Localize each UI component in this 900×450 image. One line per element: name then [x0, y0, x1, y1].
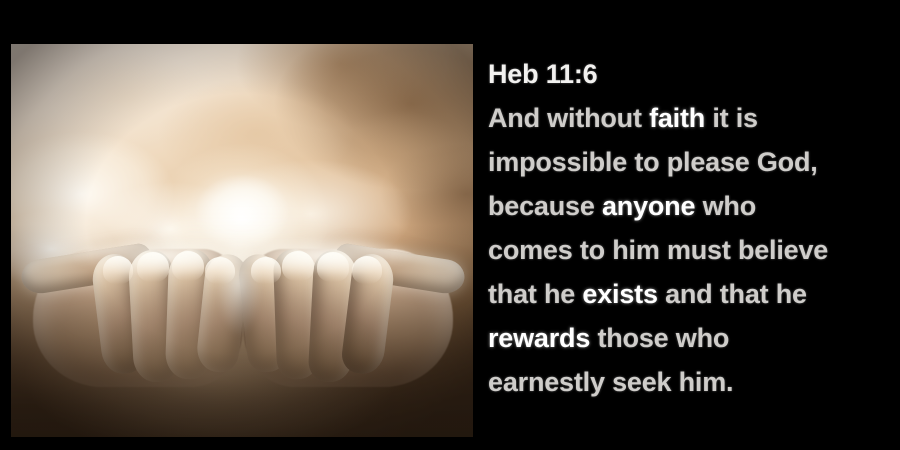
- verse-text-run: impossible to please God,: [488, 147, 818, 177]
- open-hands-photo: [11, 44, 473, 437]
- photo-vignette: [11, 44, 473, 437]
- verse-text-run: because: [488, 191, 602, 221]
- verse-text-run: it is: [705, 103, 758, 133]
- verse-text-run: And without: [488, 103, 649, 133]
- scripture-graphic: Heb 11:6 And without faith it isimpossib…: [0, 0, 900, 450]
- verse-text-run: that he: [488, 279, 582, 309]
- verse-text-run: earnestly seek him.: [488, 367, 733, 397]
- verse-text-run: comes to him must believe: [488, 235, 828, 265]
- verse-body: And without faith it isimpossible to ple…: [488, 96, 892, 404]
- verse-emphasis-word: anyone: [602, 191, 695, 221]
- verse-line: And without faith it is: [488, 96, 892, 140]
- verse-text-run: and that he: [658, 279, 807, 309]
- verse-emphasis-word: faith: [649, 103, 705, 133]
- verse-line: because anyone who: [488, 184, 892, 228]
- verse-line: earnestly seek him.: [488, 360, 892, 404]
- verse-reference: Heb 11:6: [488, 52, 892, 96]
- verse-text-block: Heb 11:6 And without faith it isimpossib…: [488, 52, 892, 404]
- verse-line: comes to him must believe: [488, 228, 892, 272]
- verse-line: that he exists and that he: [488, 272, 892, 316]
- verse-emphasis-word: exists: [582, 279, 657, 309]
- verse-line: impossible to please God,: [488, 140, 892, 184]
- verse-text-run: who: [695, 191, 756, 221]
- verse-emphasis-word: rewards: [488, 323, 590, 353]
- verse-text-run: those who: [590, 323, 729, 353]
- verse-line: rewards those who: [488, 316, 892, 360]
